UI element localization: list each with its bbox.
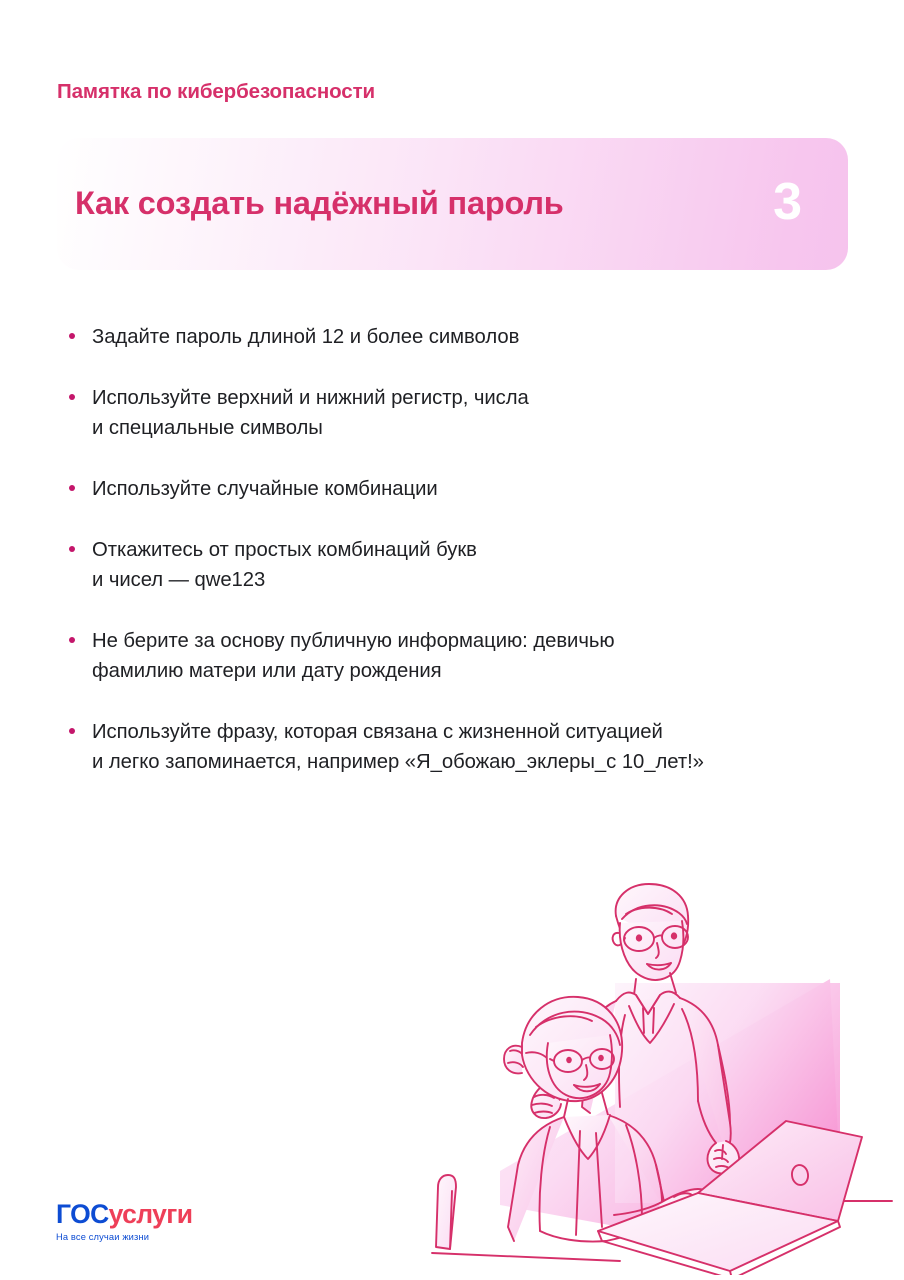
page-eyebrow: Памятка по кибербезопасности xyxy=(57,80,375,104)
list-item: Задайте пароль длиной 12 и более символо… xyxy=(68,322,858,352)
chair-back xyxy=(436,1175,456,1249)
gosuslugi-logo: ГОСуслуги На все случаи жизни xyxy=(56,1201,192,1242)
tip-line: Задайте пароль длиной 12 и более символо… xyxy=(92,322,858,352)
step-number-badge: 3 xyxy=(773,176,802,232)
tip-line: Откажитесь от простых комбинаций букв xyxy=(92,535,858,565)
bullet-dot-icon xyxy=(69,546,75,552)
bullet-dot-icon xyxy=(69,728,75,734)
list-item: Используйте случайные комбинации xyxy=(68,474,858,504)
list-item: Откажитесь от простых комбинаций букв и … xyxy=(68,535,858,595)
logo-tagline: На все случаи жизни xyxy=(56,1233,192,1242)
elderly-couple-at-laptop-illustration xyxy=(430,875,904,1275)
bullet-dot-icon xyxy=(69,394,75,400)
logo-gos-text: ГОС xyxy=(56,1199,109,1229)
tip-line: Используйте верхний и нижний регистр, чи… xyxy=(92,383,858,413)
tip-line: и чисел — qwe123 xyxy=(92,565,858,595)
tip-line: и специальные символы xyxy=(92,413,858,443)
tip-line: Используйте фразу, которая связана с жиз… xyxy=(92,717,858,747)
bullet-dot-icon xyxy=(69,637,75,643)
logo-uslugi-text: услуги xyxy=(109,1199,193,1229)
tip-line: фамилию матери или дату рождения xyxy=(92,656,858,686)
infographic-page: Памятка по кибербезопасности Как создать… xyxy=(0,0,904,1280)
title-banner: Как создать надёжный пароль 3 xyxy=(57,138,848,270)
list-item: Не берите за основу публичную информацию… xyxy=(68,626,858,686)
tips-list: Задайте пароль длиной 12 и более символо… xyxy=(68,322,858,777)
tip-line: и легко запоминается, например «Я_обожаю… xyxy=(92,747,858,777)
tip-line: Не берите за основу публичную информацию… xyxy=(92,626,858,656)
page-title: Как создать надёжный пароль xyxy=(75,186,564,222)
logo-wordmark: ГОСуслуги xyxy=(56,1201,192,1228)
list-item: Используйте фразу, которая связана с жиз… xyxy=(68,717,858,777)
tip-line: Используйте случайные комбинации xyxy=(92,474,858,504)
bullet-dot-icon xyxy=(69,333,75,339)
list-item: Используйте верхний и нижний регистр, чи… xyxy=(68,383,858,443)
bullet-dot-icon xyxy=(69,485,75,491)
